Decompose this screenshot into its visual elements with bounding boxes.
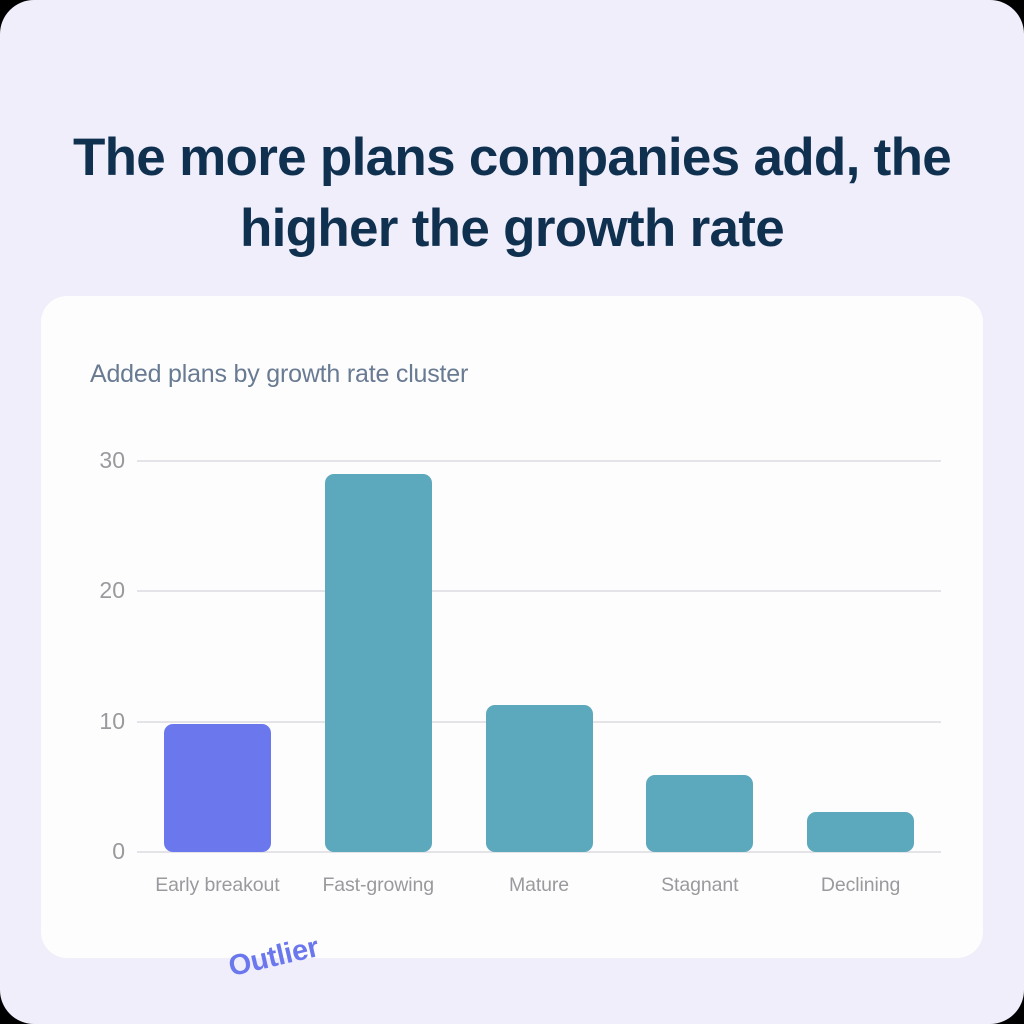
x-axis-label: Declining <box>780 874 941 897</box>
y-axis-tick-label: 10 <box>65 710 125 733</box>
bar-chart-plot: 0102030Early breakoutFast-growingMatureS… <box>41 296 983 958</box>
x-axis-label: Fast-growing <box>298 874 459 897</box>
x-axis-label: Mature <box>459 874 620 897</box>
bar-fast-growing[interactable] <box>325 474 432 852</box>
gridline <box>137 460 941 462</box>
x-axis-label: Early breakout <box>137 874 298 897</box>
gridline <box>137 590 941 592</box>
y-axis-tick-label: 20 <box>65 579 125 602</box>
chart-card: Added plans by growth rate cluster 01020… <box>41 296 983 958</box>
y-axis-tick-label: 0 <box>65 840 125 863</box>
y-axis-tick-label: 30 <box>65 449 125 472</box>
bar-declining[interactable] <box>807 812 914 852</box>
bar-mature[interactable] <box>486 705 593 852</box>
bar-stagnant[interactable] <box>646 775 753 852</box>
bar-early-breakout[interactable] <box>164 724 271 852</box>
x-axis-label: Stagnant <box>619 874 780 897</box>
page-title: The more plans companies add, the higher… <box>0 122 1024 264</box>
outlier-annotation: Outlier <box>226 931 322 984</box>
page-root: The more plans companies add, the higher… <box>0 0 1024 1024</box>
